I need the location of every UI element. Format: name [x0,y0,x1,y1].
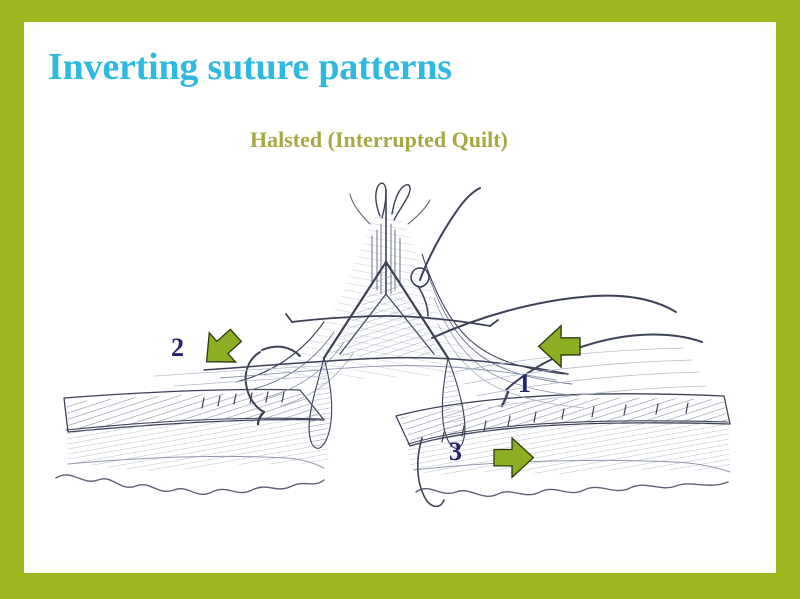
suture-illustration [24,162,776,542]
suture-illustration-svg [24,162,776,542]
slide-canvas: Inverting suture patterns Halsted (Inter… [24,22,776,573]
callout-number-2: 2 [171,335,184,361]
callout-number-1: 1 [518,371,531,397]
callout-arrow-1-icon [539,326,580,367]
slide-frame: Inverting suture patterns Halsted (Inter… [0,0,800,599]
left-tissue-block [56,389,329,494]
tissue-drawing [56,183,730,506]
callout-number-3: 3 [449,439,462,465]
page-subtitle: Halsted (Interrupted Quilt) [250,128,508,152]
page-title: Inverting suture patterns [48,48,452,88]
